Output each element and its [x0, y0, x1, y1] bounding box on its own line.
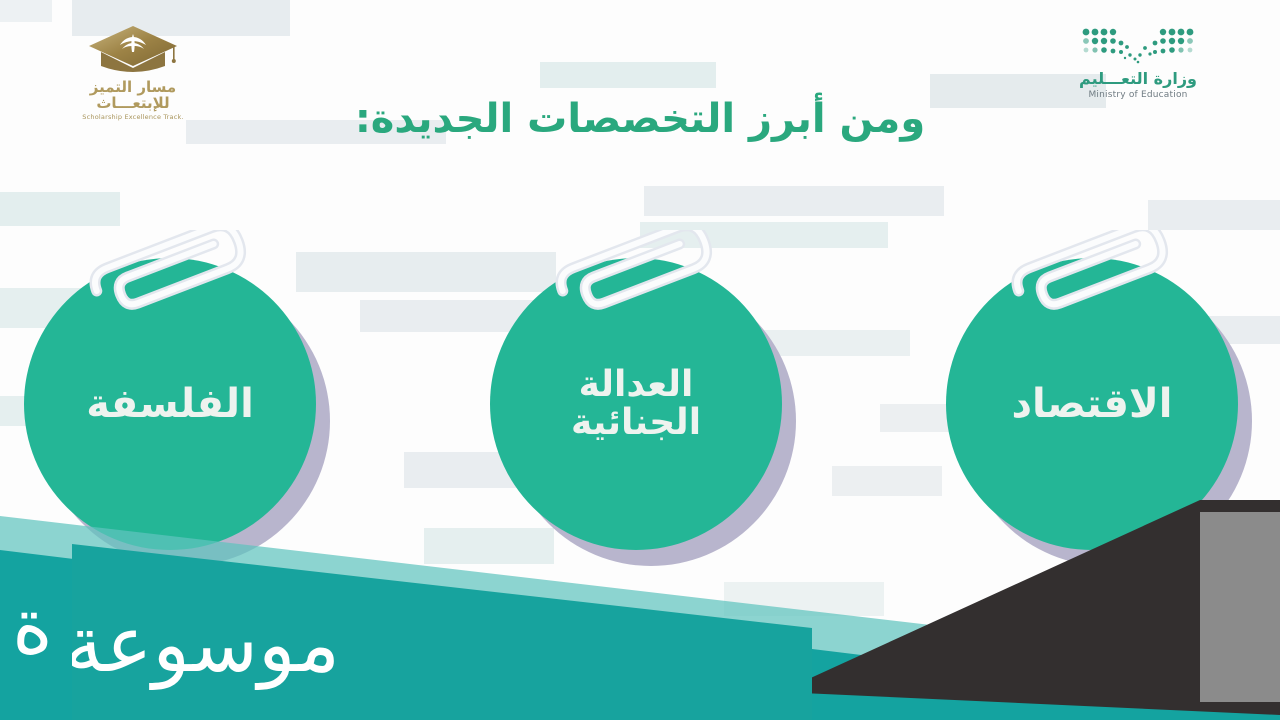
background-rect: [644, 186, 944, 216]
background-rect: [1148, 200, 1280, 230]
page-title: ومن أبرز التخصصات الجديدة:: [0, 96, 1280, 142]
watermark-edge-glyph: ة: [12, 582, 53, 672]
card-label: الاقتصاد: [998, 383, 1187, 425]
ministry-logo-arabic: وزارة التعـــليم: [1058, 71, 1218, 87]
slide-canvas: مسار التميز للإبتعـــاث Scholarship Exce…: [0, 0, 1280, 720]
card-label: العدالة الجنائية: [557, 366, 715, 442]
card-label: الفلسفة: [72, 383, 268, 425]
card-label-line2: الجنائية: [571, 402, 701, 443]
background-rect: [832, 466, 942, 496]
graduation-cap-icon: [87, 24, 179, 76]
decor-gray-panel: [1200, 512, 1280, 702]
card-circle: الفلسفة: [24, 258, 316, 550]
background-rect: [640, 222, 888, 248]
card-label-line1: العدالة: [579, 364, 694, 405]
background-rect: [0, 192, 120, 226]
ministry-of-education-logo: وزارة التعـــليم Ministry of Education: [1058, 26, 1218, 100]
card-circle: العدالة الجنائية: [490, 258, 782, 550]
specialty-card-1[interactable]: الفلسفة: [24, 258, 324, 558]
ministry-dots-icon: [1078, 26, 1198, 66]
background-rect: [0, 0, 52, 22]
watermark-text: موسوعة: [54, 574, 340, 690]
specialty-card-2[interactable]: العدالة الجنائية: [490, 258, 790, 558]
background-rect: [540, 62, 716, 88]
